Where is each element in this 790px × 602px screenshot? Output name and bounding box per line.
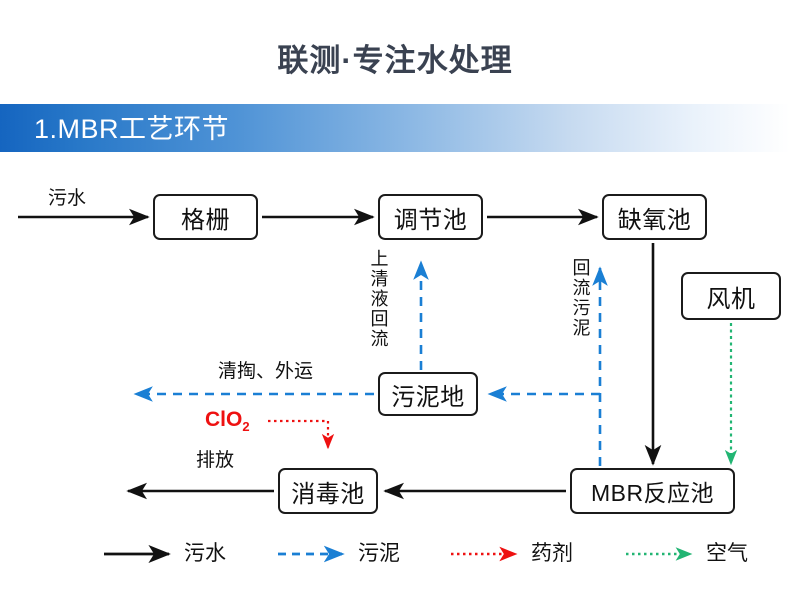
node-grating[interactable]: 格栅: [153, 194, 258, 240]
node-sludge-bed[interactable]: 污泥地: [378, 372, 478, 416]
vertical-label-char: 泥: [572, 318, 591, 338]
node-anoxic-tank[interactable]: 缺氧池: [602, 194, 707, 240]
legend-label-sludge: 污泥: [358, 542, 400, 566]
vertical-label-char: 污: [572, 298, 591, 318]
label-influent: 污水: [48, 188, 86, 210]
vertical-label-char: 流: [370, 329, 389, 349]
legend-item-sludge: 污泥: [277, 534, 400, 574]
label-chemical-clo2-subscript: 2: [242, 419, 249, 434]
label-clear-haul: 清掏、外运: [218, 361, 313, 383]
vertical-label-char: 流: [572, 278, 591, 298]
vertical-label-char: 回: [572, 258, 591, 278]
legend-swatch-sludge-icon: [277, 544, 349, 564]
legend-item-chemical: 药剂: [450, 534, 573, 574]
page-root: 联测·专注水处理 1.MBR工艺环节: [0, 0, 790, 602]
label-chemical-clo2-text: ClO: [205, 408, 242, 431]
node-blower[interactable]: 风机: [681, 272, 781, 320]
label-chemical-clo2: ClO2: [205, 409, 250, 438]
legend-label-chemical: 药剂: [531, 542, 573, 566]
label-return-sludge: 回流污泥: [572, 258, 591, 338]
vertical-label-char: 上: [370, 249, 389, 269]
legend-item-air: 空气: [625, 534, 748, 574]
flow-chemical-dosing: [268, 421, 328, 448]
legend-item-wastewater: 污水: [103, 534, 226, 574]
node-disinfection-tank[interactable]: 消毒池: [278, 468, 378, 514]
label-supernatant-reflux: 上清液回流: [370, 249, 389, 349]
vertical-label-char: 回: [370, 309, 389, 329]
legend-swatch-chemical-icon: [450, 544, 522, 564]
label-discharge: 排放: [196, 450, 234, 472]
legend-swatch-wastewater-icon: [103, 544, 175, 564]
node-mbr-reactor[interactable]: MBR反应池: [570, 468, 735, 514]
node-regulating-tank[interactable]: 调节池: [378, 194, 483, 240]
legend-label-air: 空气: [706, 542, 748, 566]
vertical-label-char: 液: [370, 289, 389, 309]
vertical-label-char: 清: [370, 269, 389, 289]
legend: 污水 污泥 药剂 空气: [0, 534, 790, 574]
legend-label-wastewater: 污水: [184, 542, 226, 566]
legend-swatch-air-icon: [625, 544, 697, 564]
